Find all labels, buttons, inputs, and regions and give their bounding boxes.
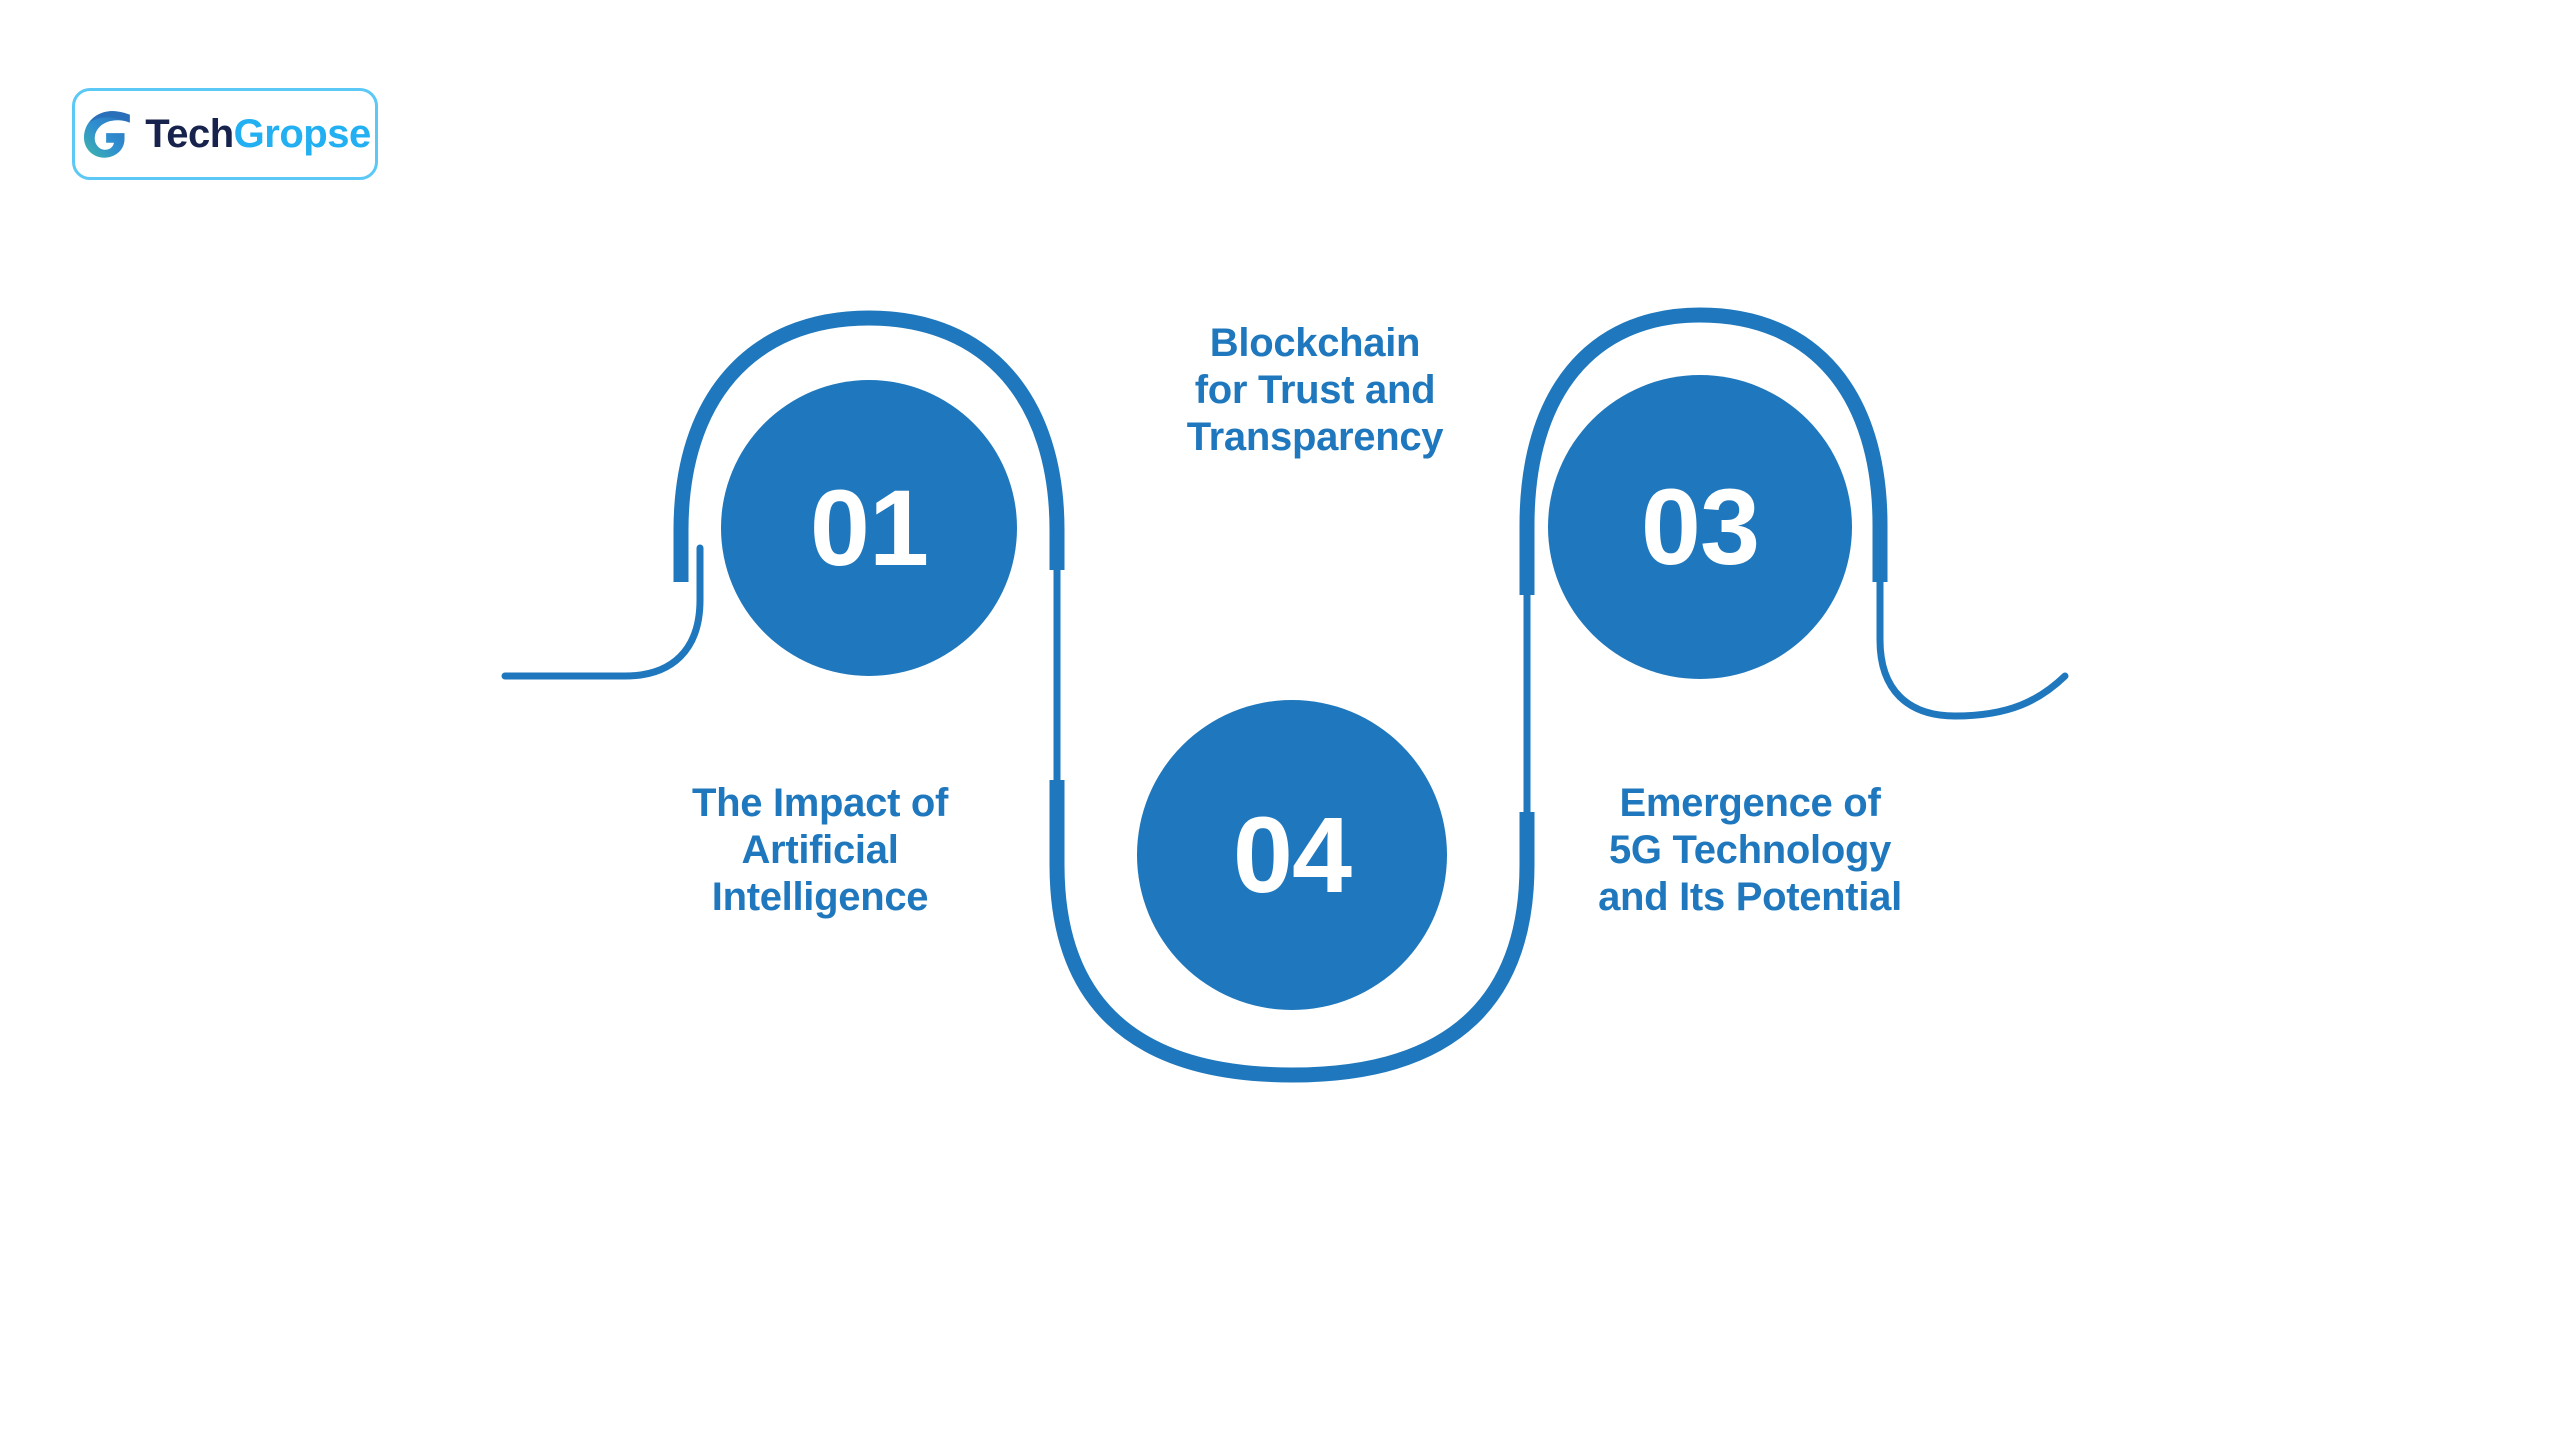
step-circle-01[interactable]: 01 xyxy=(721,380,1017,676)
step-label-ai-line-2: Artificial xyxy=(630,827,1010,874)
step-number-01: 01 xyxy=(810,474,928,582)
connector-tail-left xyxy=(505,548,700,676)
step-label-5g-line-1: Emergence of xyxy=(1540,780,1960,827)
connector-tail-right xyxy=(1880,582,2065,716)
step-label-blockchain-line-3: Transparency xyxy=(1130,414,1500,461)
step-label-blockchain-line-1: Blockchain xyxy=(1130,320,1500,367)
step-number-04: 04 xyxy=(1233,801,1351,909)
step-circle-03[interactable]: 03 xyxy=(1548,375,1852,679)
step-label-ai-line-1: The Impact of xyxy=(630,780,1010,827)
step-label-blockchain-line-2: for Trust and xyxy=(1130,367,1500,414)
step-label-5g-line-2: 5G Technology xyxy=(1540,827,1960,874)
step-label-artificial-intelligence: The Impact of Artificial Intelligence xyxy=(630,780,1010,922)
step-label-5g-line-3: and Its Potential xyxy=(1540,874,1960,921)
step-label-5g-technology: Emergence of 5G Technology and Its Poten… xyxy=(1540,780,1960,922)
step-circle-04[interactable]: 04 xyxy=(1137,700,1447,1010)
step-number-03: 03 xyxy=(1641,473,1759,581)
step-label-blockchain: Blockchain for Trust and Transparency xyxy=(1130,320,1500,462)
step-label-ai-line-3: Intelligence xyxy=(630,874,1010,921)
